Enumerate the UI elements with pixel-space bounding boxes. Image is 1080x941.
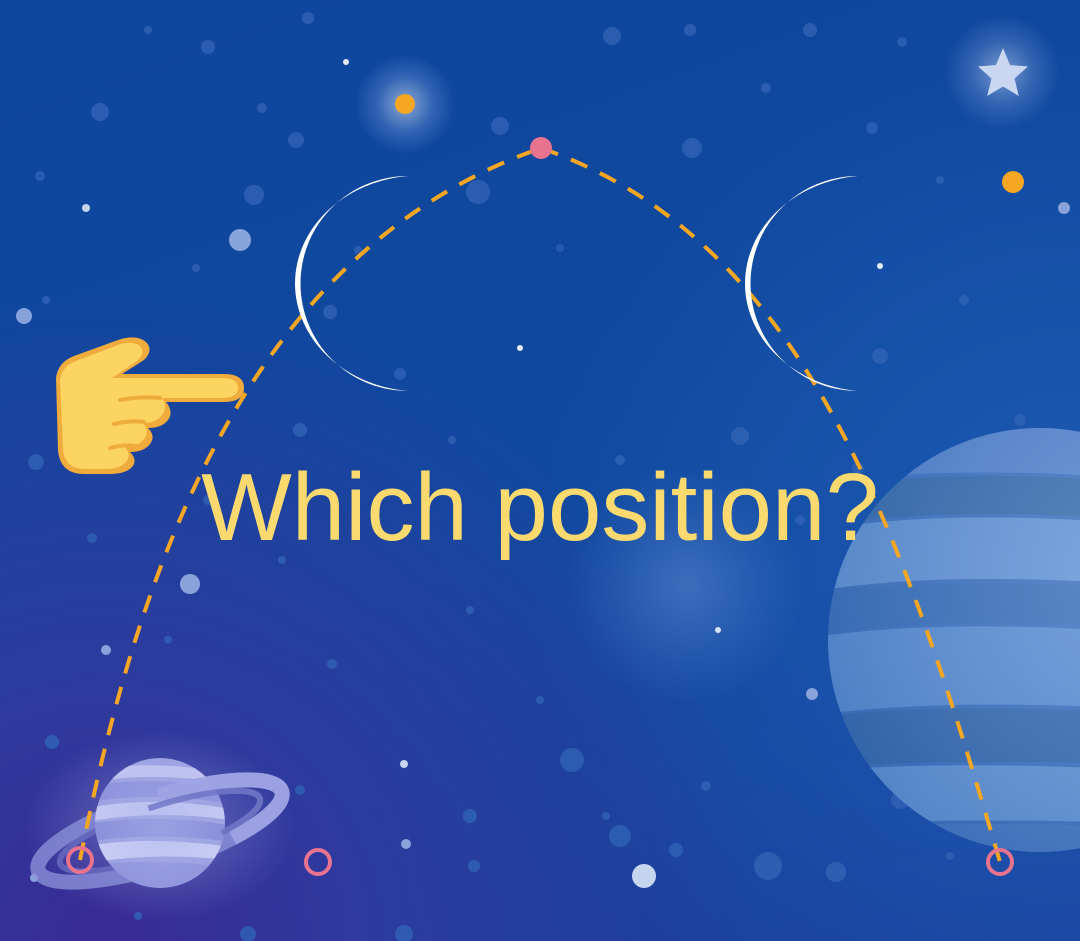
space-scene: Which position? bbox=[0, 0, 1080, 941]
end-ring-left bbox=[68, 848, 92, 872]
end-ring-right bbox=[988, 850, 1012, 874]
apex-dot bbox=[530, 137, 552, 159]
spare-ring bbox=[306, 850, 330, 874]
pointing-hand-right-icon bbox=[48, 326, 248, 476]
